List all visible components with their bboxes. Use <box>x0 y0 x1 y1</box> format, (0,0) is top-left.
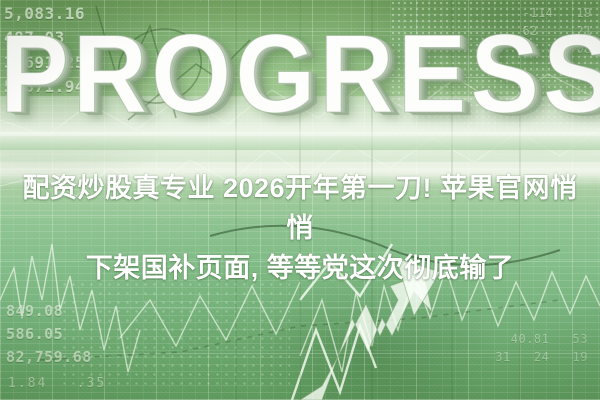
article-banner-image: 5,083.16 487.03 3,691.25 5,871.94 849.08… <box>0 0 600 400</box>
headline-overlay: 配资炒股真专业 2026开年第一刀! 苹果官网悄悄 下架国补页面, 等等党这次彻… <box>14 168 586 288</box>
quote-column-bottom-right: 40.81 53 31 24 19 <box>495 330 588 366</box>
quote-column-left-lower: 849.08 586.05 82,759.68 <box>6 300 92 368</box>
headline-line-2: 下架国补页面, 等等党这次彻底输了 <box>14 248 586 288</box>
headline-line-1: 配资炒股真专业 2026开年第一刀! 苹果官网悄悄 <box>14 168 586 248</box>
progress-wordmark: PROGRESS <box>0 18 600 129</box>
quote-row-bottom: 1.84 .35 <box>8 374 106 394</box>
wordmark-fade-veil <box>0 120 600 150</box>
wordmark-clip: PROGRESS <box>0 0 600 150</box>
